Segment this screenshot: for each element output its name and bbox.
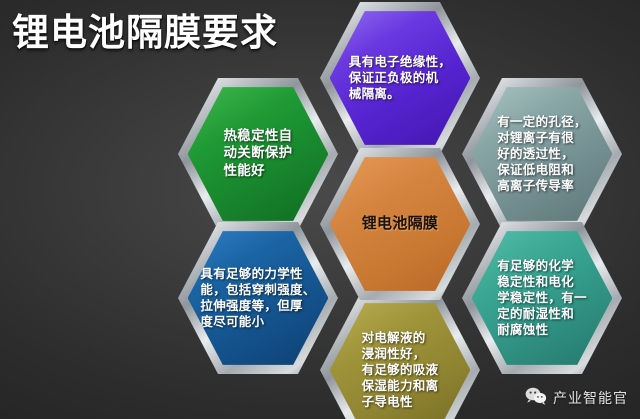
hexagon-porosity-label: 有一定的孔径， 对锂离子有很 好的透过性， 保证低电阻和 高离子传导率 bbox=[497, 114, 587, 194]
wechat-icon bbox=[525, 387, 547, 409]
hexagon-chemical-stability-label: 有足够的化学 稳定性和电化 学稳定性，有一 定的耐湿性和 耐腐蚀性 bbox=[497, 258, 587, 338]
hexagon-insulation-label: 具有电子绝缘性， 保证正负极的机 械隔离。 bbox=[349, 54, 451, 102]
hexagon-electrolyte-wetting[interactable]: 对电解液的 浸润性好， 有足够的吸液 保湿能力和离 子导电性 bbox=[320, 294, 480, 419]
hexagon-chemical-stability[interactable]: 有足够的化学 稳定性和电化 学稳定性，有一 定的耐湿性和 耐腐蚀性 bbox=[462, 222, 622, 374]
hexagon-electrolyte-wetting-body: 对电解液的 浸润性好， 有足够的吸液 保湿能力和离 子导电性 bbox=[330, 303, 471, 419]
hexagon-thermal-stability[interactable]: 热稳定性自 动关断保护 性能好 bbox=[178, 78, 338, 230]
hexagon-center-topic-label: 锂电池隔膜 bbox=[362, 214, 439, 233]
hexagon-mechanical-strength-label: 具有足够的力学性 能，包括穿刺强度、 拉伸强度等，但厚 度尽可能小 bbox=[200, 266, 315, 330]
watermark: 产业智能官 bbox=[525, 387, 628, 409]
hexagon-mechanical-strength-body: 具有足够的力学性 能，包括穿刺强度、 拉伸强度等，但厚 度尽可能小 bbox=[188, 231, 329, 365]
hexagon-insulation-body: 具有电子绝缘性， 保证正负极的机 械隔离。 bbox=[330, 11, 471, 145]
hexagon-porosity[interactable]: 有一定的孔径， 对锂离子有很 好的透过性， 保证低电阻和 高离子传导率 bbox=[462, 78, 622, 230]
hexagon-porosity-body: 有一定的孔径， 对锂离子有很 好的透过性， 保证低电阻和 高离子传导率 bbox=[472, 87, 613, 221]
hexagon-chemical-stability-body: 有足够的化学 稳定性和电化 学稳定性，有一 定的耐湿性和 耐腐蚀性 bbox=[472, 231, 613, 365]
hexagon-center-topic-body: 锂电池隔膜 bbox=[330, 157, 471, 291]
hexagon-insulation[interactable]: 具有电子绝缘性， 保证正负极的机 械隔离。 bbox=[320, 2, 480, 154]
hexagon-electrolyte-wetting-label: 对电解液的 浸润性好， 有足够的吸液 保湿能力和离 子导电性 bbox=[362, 330, 439, 410]
slide-canvas: 锂电池隔膜要求 具有电子绝缘性， 保证正负极的机 械隔离。 热稳定性自 动关断保… bbox=[0, 0, 640, 419]
hexagon-center-topic[interactable]: 锂电池隔膜 bbox=[320, 148, 480, 300]
hexagon-thermal-stability-body: 热稳定性自 动关断保护 性能好 bbox=[188, 87, 329, 221]
hexagon-mechanical-strength[interactable]: 具有足够的力学性 能，包括穿刺强度、 拉伸强度等，但厚 度尽可能小 bbox=[178, 222, 338, 374]
hexagon-thermal-stability-label: 热稳定性自 动关断保护 性能好 bbox=[223, 128, 292, 180]
page-title: 锂电池隔膜要求 bbox=[12, 14, 278, 53]
watermark-label: 产业智能官 bbox=[553, 388, 628, 408]
